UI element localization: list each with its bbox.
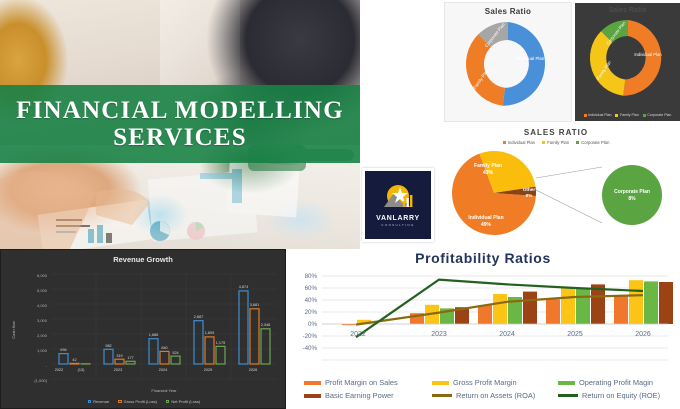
- rev-value-revenue-2022: 694: [60, 348, 66, 352]
- rev-value-net-2023: 177: [127, 356, 133, 360]
- prof-bar-opm-2025: [576, 288, 590, 324]
- legend-swatch-individual: [584, 114, 587, 117]
- sales-ratio-pie-title: SALES RATIO: [432, 124, 680, 137]
- prof-xtick-2022: 2022: [350, 331, 366, 338]
- prof-group-2024: [478, 292, 537, 324]
- prof-legend-swatch-pms: [304, 381, 321, 385]
- legend-swatch-family: [615, 114, 618, 117]
- sales-ratio-light-card: Sales Ratio Individual Plan Family Plan …: [444, 2, 572, 122]
- pie-detail-corporate: Corporate Plan 8%: [602, 165, 662, 225]
- rev-xtick-2023: 2023: [114, 368, 122, 372]
- prof-legend-label-bep: Basic Earning Power: [325, 391, 394, 400]
- rev-xtick-2026: 2026: [249, 368, 257, 372]
- rev-ytick-2: 4,000: [37, 303, 48, 308]
- pie-connector-top: [536, 167, 602, 178]
- hero-title-line-1: FINANCIAL MODELLING: [16, 97, 344, 124]
- rev-bar-gross-2024: [160, 351, 169, 364]
- logo-subtitle: CONSULTING: [381, 223, 414, 227]
- prof-legend-label-opm: Operating Profit Magin: [579, 378, 653, 387]
- rev-xtick-2024: 2024: [159, 368, 167, 372]
- rev-legend-swatch-net-profit: [166, 400, 169, 403]
- prof-bar-bep-2026: [659, 282, 673, 324]
- rev-value-revenue-2025: 2,887: [194, 315, 204, 319]
- revenue-growth-title: Revenue Growth: [1, 250, 285, 264]
- rev-legend-item-net-profit: Net Profit (Loss): [166, 399, 200, 404]
- prof-legend-swatch-roe: [558, 394, 578, 396]
- prof-y-axis: 80% 60% 40% 20% 0% -20% -40%: [303, 273, 318, 352]
- prof-legend-swatch-gpm: [432, 381, 449, 385]
- rev-bar-revenue-2025: [194, 321, 203, 364]
- vanlarry-logo: VANLARRY CONSULTING: [365, 171, 431, 239]
- rev-legend-item-gross-profit: Gross Profit (Loss): [118, 399, 157, 404]
- sales-ratio-light-chart: Individual Plan Family Plan Corporate Pl…: [445, 16, 571, 116]
- prof-bar-gpm-2025: [561, 287, 575, 324]
- rev-value-net-2026: 2,348: [261, 323, 271, 327]
- sales-ratio-dark-legend: Individual Plan Family Plan Corporate Pl…: [575, 113, 680, 117]
- rev-ytick-4: 2,000: [37, 333, 48, 338]
- rev-value-gross-2026: 3,681: [250, 303, 260, 307]
- revenue-growth-plot: 6,000 5,000 4,000 3,000 2,000 1,000 - (1…: [1, 264, 287, 396]
- sales-ratio-dark-title: Sales Ratio: [575, 3, 680, 14]
- rev-xtick-2022: 2022: [55, 368, 63, 372]
- pie-detail-value: 8%: [628, 196, 636, 202]
- rev-bar-revenue-2023: [104, 349, 113, 364]
- rev-bar-revenue-2026: [239, 291, 248, 364]
- rev-bar-net-2023: [126, 361, 135, 364]
- rev-ytick-7: (1,000): [34, 378, 47, 383]
- legend-item-family-plan: Family Plan: [615, 113, 638, 117]
- prof-bar-bep-2025: [591, 284, 605, 324]
- sales-ratio-pie-panel: SALES RATIO Individual Plan Family Plan …: [432, 124, 680, 245]
- pie-legend-swatch-family: [542, 141, 545, 144]
- donut-label-individual: Individual Plan: [516, 56, 545, 61]
- prof-xtick-2025: 2025: [567, 331, 583, 338]
- prof-xtick-2026: 2026: [635, 331, 651, 338]
- legend-label-corporate: Corporate Plan: [647, 113, 671, 117]
- revenue-growth-legend: Revenue Gross Profit (Loss) Net Profit (…: [1, 399, 287, 404]
- pie-legend-label-family: Family Plan: [547, 140, 569, 145]
- prof-legend-label-roe: Return on Equity (ROE): [582, 391, 660, 400]
- rev-value-net-2025: 1,175: [216, 341, 226, 345]
- rev-bar-revenue-2022: [59, 354, 68, 364]
- poster-canvas: FINANCIAL MODELLING SERVICES Sales Ratio…: [0, 0, 680, 409]
- prof-bar-pms-2026: [614, 296, 628, 324]
- pie-value-family-plan: 43%: [483, 170, 494, 176]
- rev-value-revenue-2024: 1,686: [149, 333, 159, 337]
- rev-bar-net-2024: [171, 356, 180, 364]
- prof-bar-gpm-2026: [629, 280, 643, 324]
- rev-value-gross-2025: 1,809: [205, 331, 215, 335]
- rev-value-gross-2024: 840: [161, 346, 167, 350]
- prof-legend-label-pms: Profit Margin on Sales: [325, 378, 398, 387]
- pie-legend-item-family: Family Plan: [542, 140, 569, 145]
- prof-legend-row-1: Profit Margin on Sales Gross Profit Marg…: [304, 378, 666, 387]
- rev-legend-swatch-gross-profit: [118, 400, 121, 403]
- donut-slice-individual-plan: [503, 22, 545, 106]
- logo-mark-star-chart-icon: [376, 183, 420, 213]
- prof-legend-swatch-bep: [304, 394, 321, 398]
- pie-label-individual-plan: Individual Plan: [468, 215, 503, 221]
- pie-of-pie-chart: Family Plan 43% Individual Plan 49% Othe…: [432, 145, 680, 241]
- rev-value-net-2024: 524: [172, 351, 178, 355]
- prof-group-2023: [410, 305, 469, 324]
- pie-legend-label-corporate: Corporate Plan: [581, 140, 609, 145]
- prof-ytick-2: 40%: [305, 297, 318, 304]
- sales-ratio-donuts-panel: Sales Ratio Individual Plan Family Plan …: [440, 0, 680, 124]
- pie-legend-item-corporate: Corporate Plan: [576, 140, 609, 145]
- prof-group-2026: [614, 280, 673, 324]
- rev-bar-gross-2023: [115, 359, 124, 364]
- prof-bar-pms-2024: [478, 305, 492, 324]
- prof-bar-gpm-2024: [493, 294, 507, 324]
- revenue-category-dividers: [96, 274, 231, 379]
- prof-legend-item-return-on-assets: Return on Assets (ROA): [432, 391, 558, 400]
- rev-bar-gross-2026: [250, 309, 259, 364]
- rev-ytick-5: 1,000: [37, 348, 48, 353]
- revenue-group-2022: 694 42 2022 (13): [55, 348, 90, 372]
- rev-value-gross-2023: 319: [116, 354, 122, 358]
- legend-swatch-corporate: [643, 114, 646, 117]
- prof-bar-bep-2024: [523, 292, 537, 324]
- rev-ytick-3: 3,000: [37, 318, 48, 323]
- donut-dark-slice-individual: [623, 20, 661, 96]
- pie-legend-label-individual: Individual Plan: [508, 140, 535, 145]
- prof-xtick-2023: 2023: [431, 331, 447, 338]
- logo-bar-3-icon: [410, 195, 412, 207]
- revenue-group-2023: 982 319 177 2023: [104, 344, 135, 372]
- revenue-growth-chart-panel: Revenue Growth 6,000 5,000 4,000 3,000 2…: [0, 249, 286, 409]
- prof-group-2025: [546, 284, 605, 324]
- rev-xtick-2025: 2025: [204, 368, 212, 372]
- prof-legend-label-gpm: Gross Profit Margin: [453, 378, 517, 387]
- rev-legend-label-gross-profit: Gross Profit (Loss): [124, 399, 157, 404]
- donut-dark-label-individual: Individual Plan: [634, 52, 662, 57]
- prof-legend-swatch-roa: [432, 394, 452, 396]
- hero-banner: FINANCIAL MODELLING SERVICES: [0, 0, 360, 249]
- prof-ytick-6: -40%: [303, 345, 318, 352]
- logo-name: VANLARRY: [376, 215, 420, 222]
- rev-legend-item-revenue: Revenue: [88, 399, 109, 404]
- pie-label-family-plan: Family Plan: [474, 163, 502, 169]
- revenue-y-axis-label: Cash flow: [11, 321, 16, 339]
- prof-legend-swatch-opm: [558, 381, 575, 385]
- rev-legend-label-revenue: Revenue: [93, 399, 109, 404]
- prof-ytick-0: 80%: [305, 273, 318, 280]
- profitability-ratios-legend: Profit Margin on Sales Gross Profit Marg…: [304, 378, 666, 404]
- logo-bar-2-icon: [407, 198, 409, 207]
- revenue-group-2026: 4,874 3,681 2,348 2026: [239, 285, 271, 372]
- pie-value-individual-plan: 49%: [481, 222, 492, 228]
- pie-legend-swatch-corporate: [576, 141, 579, 144]
- profitability-ratios-title: Profitability Ratios: [286, 249, 680, 266]
- prof-legend-item-operating-profit-margin: Operating Profit Magin: [558, 378, 653, 387]
- pie-connector-bottom: [536, 190, 602, 223]
- rev-value-revenue-2026: 4,874: [239, 285, 249, 289]
- rev-value-net-2022: (13): [78, 368, 85, 372]
- rev-value-revenue-2023: 982: [105, 344, 111, 348]
- hero-title-line-2: SERVICES: [113, 124, 247, 151]
- pie-detail-label: Corporate Plan: [614, 189, 650, 195]
- rev-bar-revenue-2024: [149, 339, 158, 364]
- prof-x-axis: 2022 2023 2024 2025 2026: [350, 331, 651, 338]
- vanlarry-logo-card: VANLARRY CONSULTING: [362, 168, 434, 242]
- hero-title-band: FINANCIAL MODELLING SERVICES: [0, 85, 360, 163]
- pie-label-other: Other: [523, 187, 535, 192]
- prof-xtick-2024: 2024: [499, 331, 515, 338]
- prof-legend-label-roa: Return on Assets (ROA): [456, 391, 535, 400]
- prof-legend-item-gross-profit-margin: Gross Profit Margin: [432, 378, 558, 387]
- revenue-group-2024: 1,686 840 524 2024: [149, 333, 180, 372]
- logo-bar-1-icon: [403, 201, 405, 207]
- rev-legend-swatch-revenue: [88, 400, 91, 403]
- prof-ytick-3: 20%: [305, 309, 318, 316]
- profitability-ratios-panel: Profitability Ratios 80% 60% 40% 20% 0% …: [286, 249, 680, 409]
- pie-legend-item-individual: Individual Plan: [503, 140, 535, 145]
- legend-item-corporate-plan: Corporate Plan: [643, 113, 672, 117]
- revenue-x-axis-label: Financial Year: [151, 388, 177, 393]
- prof-legend-item-profit-margin-on-sales: Profit Margin on Sales: [304, 378, 432, 387]
- pie-main: Family Plan 43% Individual Plan 49% Othe…: [452, 151, 536, 235]
- rev-ytick-1: 5,000: [37, 288, 48, 293]
- legend-label-individual: Individual Plan: [588, 113, 611, 117]
- rev-bar-gross-2025: [205, 337, 214, 364]
- prof-legend-item-return-on-equity: Return on Equity (ROE): [558, 391, 660, 400]
- rev-legend-label-net-profit: Net Profit (Loss): [171, 399, 200, 404]
- rev-bar-gross-2022: [70, 363, 79, 364]
- prof-ytick-1: 60%: [305, 285, 318, 292]
- profitability-ratios-plot: 80% 60% 40% 20% 0% -20% -40%: [286, 266, 680, 371]
- prof-legend-row-2: Basic Earning Power Return on Assets (RO…: [304, 391, 666, 400]
- legend-item-individual-plan: Individual Plan: [584, 113, 612, 117]
- sales-ratio-dark-card: Sales Ratio Individual Plan Family Plan …: [575, 3, 680, 121]
- pie-value-other: 8%: [526, 193, 533, 198]
- revenue-y-axis: 6,000 5,000 4,000 3,000 2,000 1,000 - (1…: [34, 273, 47, 383]
- prof-ytick-5: -20%: [303, 333, 318, 340]
- prof-ytick-4: 0%: [308, 321, 317, 328]
- prof-bar-pms-2025: [546, 299, 560, 324]
- prof-legend-item-basic-earning-power: Basic Earning Power: [304, 391, 432, 400]
- rev-ytick-6: -: [46, 363, 48, 368]
- prof-bar-opm-2026: [644, 281, 658, 324]
- pie-legend-swatch-individual: [503, 141, 506, 144]
- rev-ytick-0: 6,000: [37, 273, 48, 278]
- sales-ratio-dark-chart: Individual Plan Family Plan Corporate Pl…: [575, 14, 680, 106]
- sales-ratio-light-title: Sales Ratio: [445, 3, 571, 16]
- legend-label-family: Family Plan: [620, 113, 639, 117]
- pie-detail-circle: [602, 165, 662, 225]
- rev-value-gross-2022: 42: [72, 358, 76, 362]
- revenue-group-2025: 2,887 1,809 1,175 2025: [194, 315, 226, 372]
